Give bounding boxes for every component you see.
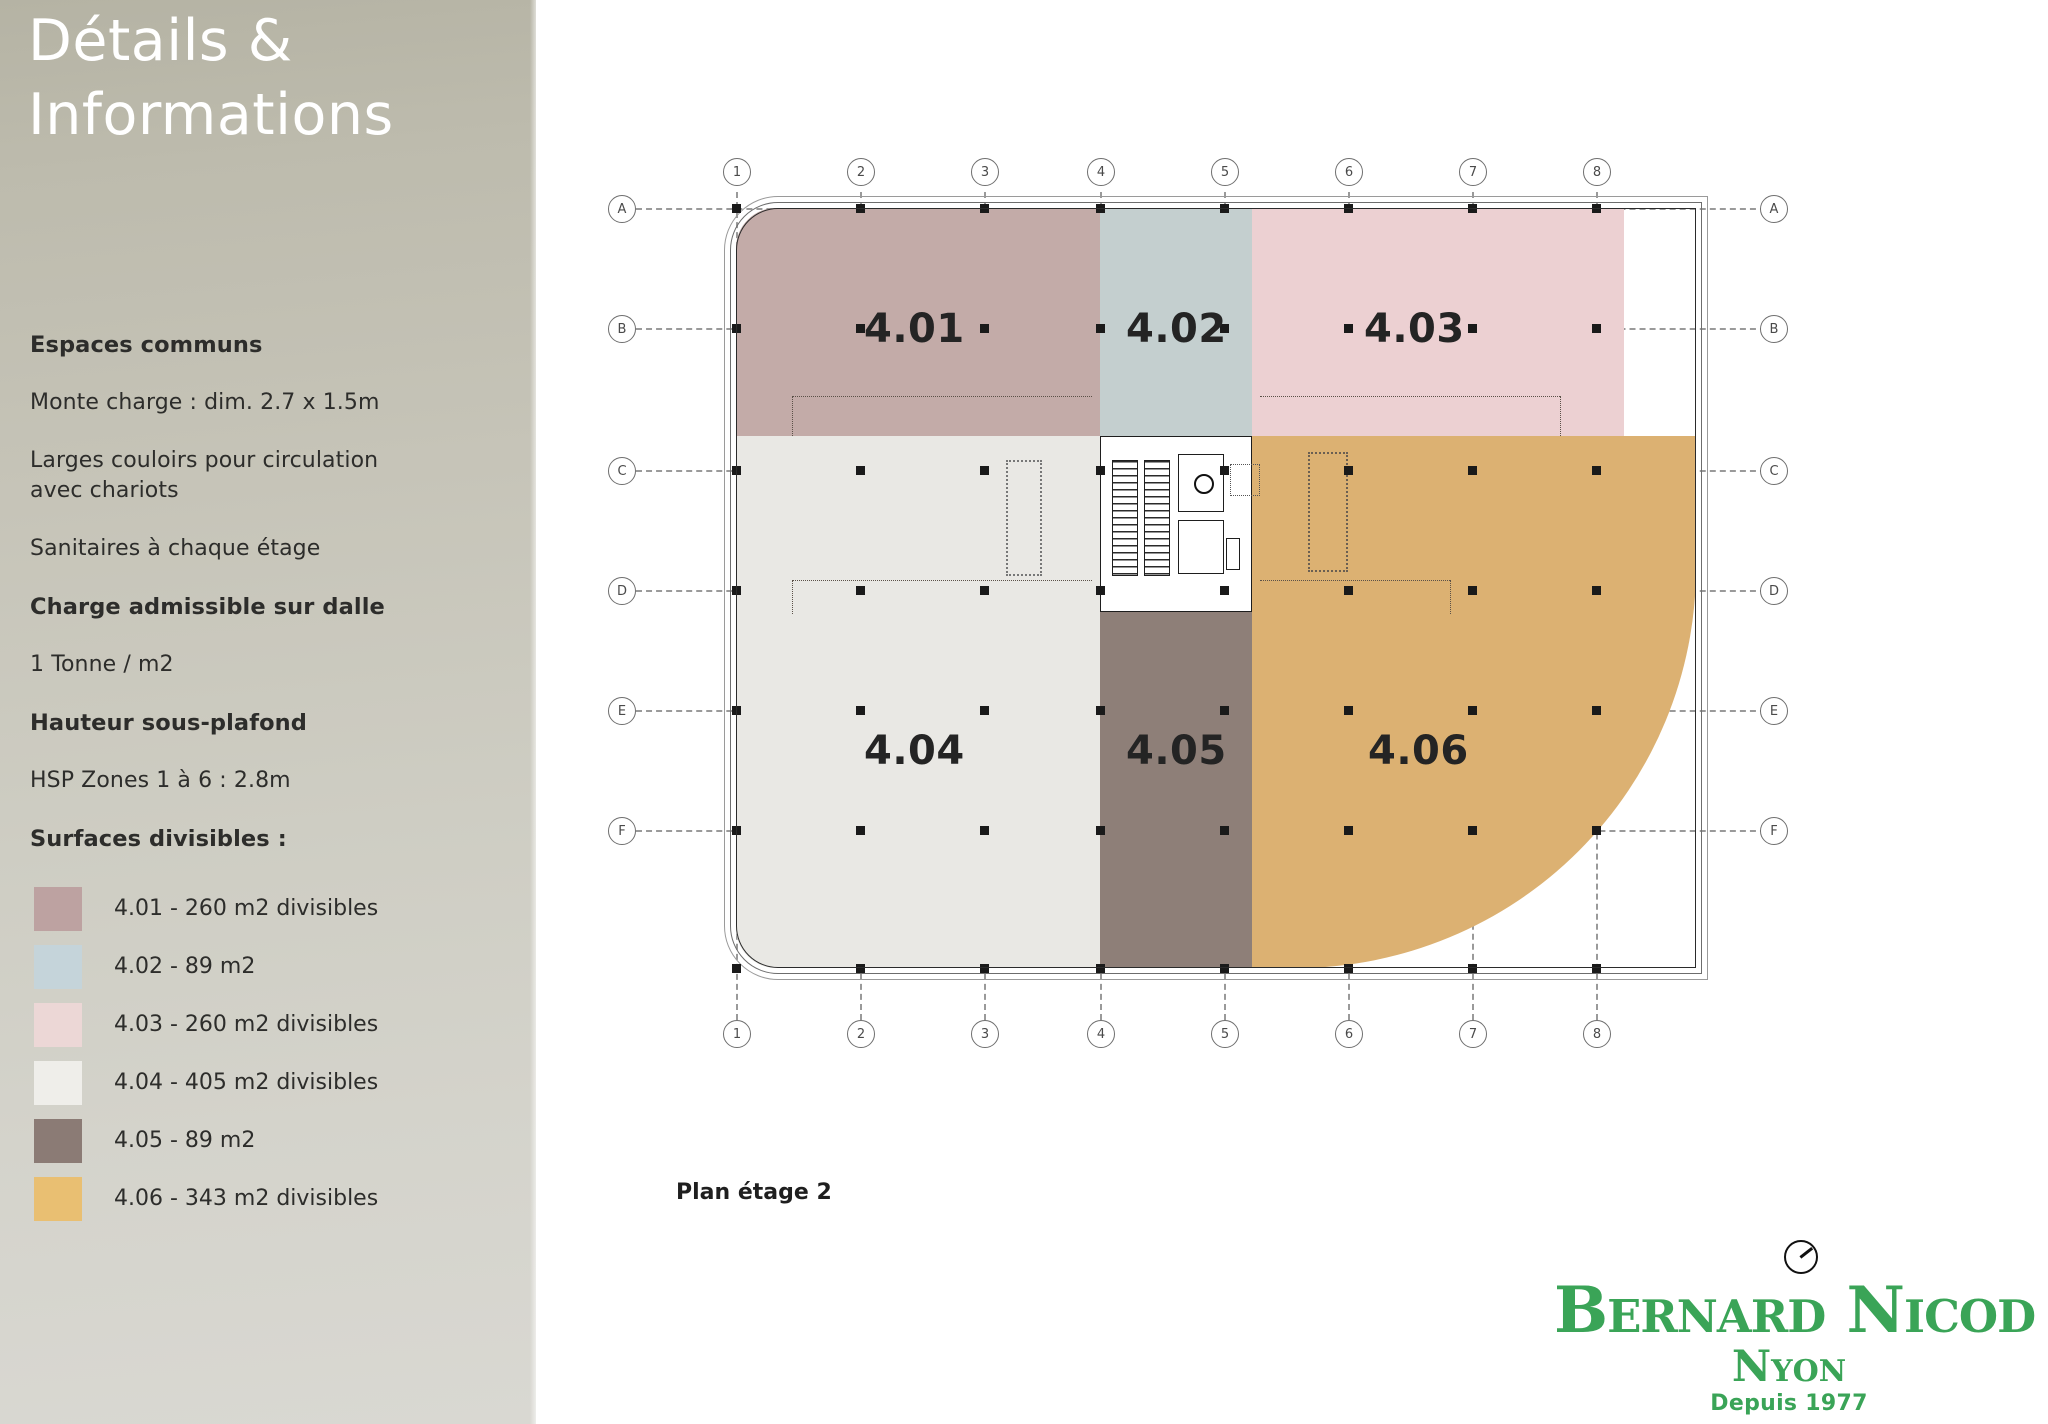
grid-tag-row-right: D (1760, 577, 1788, 605)
zone-label-4-01: 4.01 (864, 306, 965, 352)
grid-tag-column-bottom: 6 (1335, 1020, 1363, 1048)
logo-company-name: Bernard Nicod (1554, 1278, 2024, 1344)
info-text: Monte charge : dim. 2.7 x 1.5m (30, 388, 490, 418)
logo-branch-name: Nyon (1554, 1344, 2024, 1390)
grid-tag-row-left: B (608, 315, 636, 343)
floor-plan-panel: 1122334455667788AABBCCDDEEFF (536, 0, 2048, 1424)
grid-tag-column-bottom: 3 (971, 1020, 999, 1048)
info-text-line-2: avec chariots (30, 476, 490, 506)
grid-tag-row-left: F (608, 817, 636, 845)
grid-tag-row-right: E (1760, 697, 1788, 725)
section-heading: Surfaces divisibles : (30, 824, 490, 854)
legend-label: 4.02 - 89 m2 (114, 952, 255, 982)
legend-color-swatch (34, 1061, 82, 1105)
grid-tag-column-bottom: 5 (1211, 1020, 1239, 1048)
zone-label-4-06: 4.06 (1368, 728, 1469, 774)
grid-tag-column-top: 8 (1583, 158, 1611, 186)
section-charge-admissible: Charge admissible sur dalle (30, 592, 490, 622)
page-title: Détails & Informations (28, 4, 498, 152)
info-couloirs: Larges couloirs pour circulation avec ch… (30, 446, 490, 506)
legend-item-4-02[interactable]: 4.02 - 89 m2 (30, 938, 490, 996)
grid-tag-row-right: C (1760, 457, 1788, 485)
grid-tag-column-bottom: 2 (847, 1020, 875, 1048)
legend-item-4-05[interactable]: 4.05 - 89 m2 (30, 1112, 490, 1170)
legend-color-swatch (34, 1119, 82, 1163)
legend-label: 4.05 - 89 m2 (114, 1126, 255, 1156)
grid-tag-column-top: 3 (971, 158, 999, 186)
legend-label: 4.04 - 405 m2 divisibles (114, 1068, 378, 1098)
section-espaces-communs: Espaces communs (30, 330, 490, 360)
legend-label: 4.01 - 260 m2 divisibles (114, 894, 378, 924)
info-sanitaires: Sanitaires à chaque étage (30, 534, 490, 564)
grid-tag-row-right: B (1760, 315, 1788, 343)
legend-label: 4.03 - 260 m2 divisibles (114, 1010, 378, 1040)
details-sidebar: Détails & Informations Espaces communs M… (0, 0, 536, 1424)
logo-tagline: Depuis 1977 (1554, 1390, 2024, 1418)
grid-tag-column-top: 5 (1211, 158, 1239, 186)
grid-tag-column-bottom: 1 (723, 1020, 751, 1048)
grid-tag-row-left: D (608, 577, 636, 605)
legend-color-swatch (34, 1003, 82, 1047)
surface-legend: 4.01 - 260 m2 divisibles4.02 - 89 m24.03… (30, 880, 490, 1228)
info-text: 1 Tonne / m2 (30, 650, 490, 680)
grid-tag-column-bottom: 8 (1583, 1020, 1611, 1048)
zone-label-4-04: 4.04 (864, 728, 965, 774)
legend-color-swatch (34, 887, 82, 931)
zone-label-4-03: 4.03 (1364, 306, 1465, 352)
legend-item-4-01[interactable]: 4.01 - 260 m2 divisibles (30, 880, 490, 938)
section-surfaces-divisibles: Surfaces divisibles : (30, 824, 490, 854)
grid-tag-column-top: 6 (1335, 158, 1363, 186)
grid-tag-column-top: 1 (723, 158, 751, 186)
info-charge-value: 1 Tonne / m2 (30, 650, 490, 680)
grid-tag-column-bottom: 4 (1087, 1020, 1115, 1048)
section-heading: Charge admissible sur dalle (30, 592, 490, 622)
building-outline: 4.01 4.02 4.03 4.04 4.05 4.06 (736, 208, 1696, 968)
info-hsp-value: HSP Zones 1 à 6 : 2.8m (30, 766, 490, 796)
legend-label: 4.06 - 343 m2 divisibles (114, 1184, 378, 1214)
sidebar-content: Espaces communs Monte charge : dim. 2.7 … (30, 330, 490, 1228)
grid-tag-row-left: C (608, 457, 636, 485)
structural-column-dot (732, 204, 741, 213)
legend-item-4-03[interactable]: 4.03 - 260 m2 divisibles (30, 996, 490, 1054)
company-logo: Bernard Nicod Nyon Depuis 1977 (1554, 1240, 2024, 1418)
zone-label-4-02: 4.02 (1126, 306, 1227, 352)
grid-tag-row-right: A (1760, 195, 1788, 223)
grid-tag-column-top: 7 (1459, 158, 1487, 186)
structural-column-dot (732, 964, 741, 973)
page-title-line-2: Informations (28, 78, 498, 152)
legend-color-swatch (34, 945, 82, 989)
grid-tag-row-right: F (1760, 817, 1788, 845)
compass-north-icon (1784, 1240, 1818, 1274)
section-hauteur-sous-plafond: Hauteur sous-plafond (30, 708, 490, 738)
section-heading: Hauteur sous-plafond (30, 708, 490, 738)
info-text-line-1: Larges couloirs pour circulation (30, 446, 490, 476)
section-heading: Espaces communs (30, 330, 490, 360)
legend-item-4-04[interactable]: 4.04 - 405 m2 divisibles (30, 1054, 490, 1112)
grid-tag-row-left: A (608, 195, 636, 223)
grid-tag-column-top: 2 (847, 158, 875, 186)
legend-item-4-06[interactable]: 4.06 - 343 m2 divisibles (30, 1170, 490, 1228)
info-text: Sanitaires à chaque étage (30, 534, 490, 564)
plan-caption: Plan étage 2 (676, 1180, 832, 1205)
grid-tag-column-top: 4 (1087, 158, 1115, 186)
legend-color-swatch (34, 1177, 82, 1221)
grid-tag-column-bottom: 7 (1459, 1020, 1487, 1048)
page-title-line-1: Détails & (28, 4, 498, 78)
zone-label-4-05: 4.05 (1126, 728, 1227, 774)
info-monte-charge: Monte charge : dim. 2.7 x 1.5m (30, 388, 490, 418)
info-text: HSP Zones 1 à 6 : 2.8m (30, 766, 490, 796)
floor-plan-drawing: 1122334455667788AABBCCDDEEFF (676, 170, 1906, 1070)
grid-tag-row-left: E (608, 697, 636, 725)
